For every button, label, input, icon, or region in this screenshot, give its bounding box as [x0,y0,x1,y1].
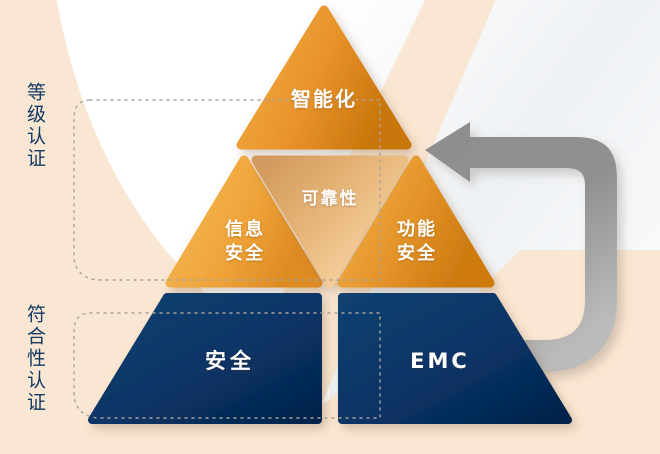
pyramid [0,0,660,454]
pyramid-block-safety[interactable] [92,297,318,420]
side-label-compliance-certification: 符合性认证 [24,304,44,414]
triangle-intelligent [241,10,407,145]
pyramid-block-emc[interactable] [342,297,568,420]
side-label-grade-certification: 等级认证 [24,82,44,170]
trapezoid-emc [342,297,568,420]
pyramid-block-intelligent[interactable] [241,10,407,145]
diagram-canvas: 等级认证 符合性认证 智能化 信息 安全 可靠性 功能 安全 安全 EMC [0,0,660,454]
trapezoid-safety [92,297,318,420]
